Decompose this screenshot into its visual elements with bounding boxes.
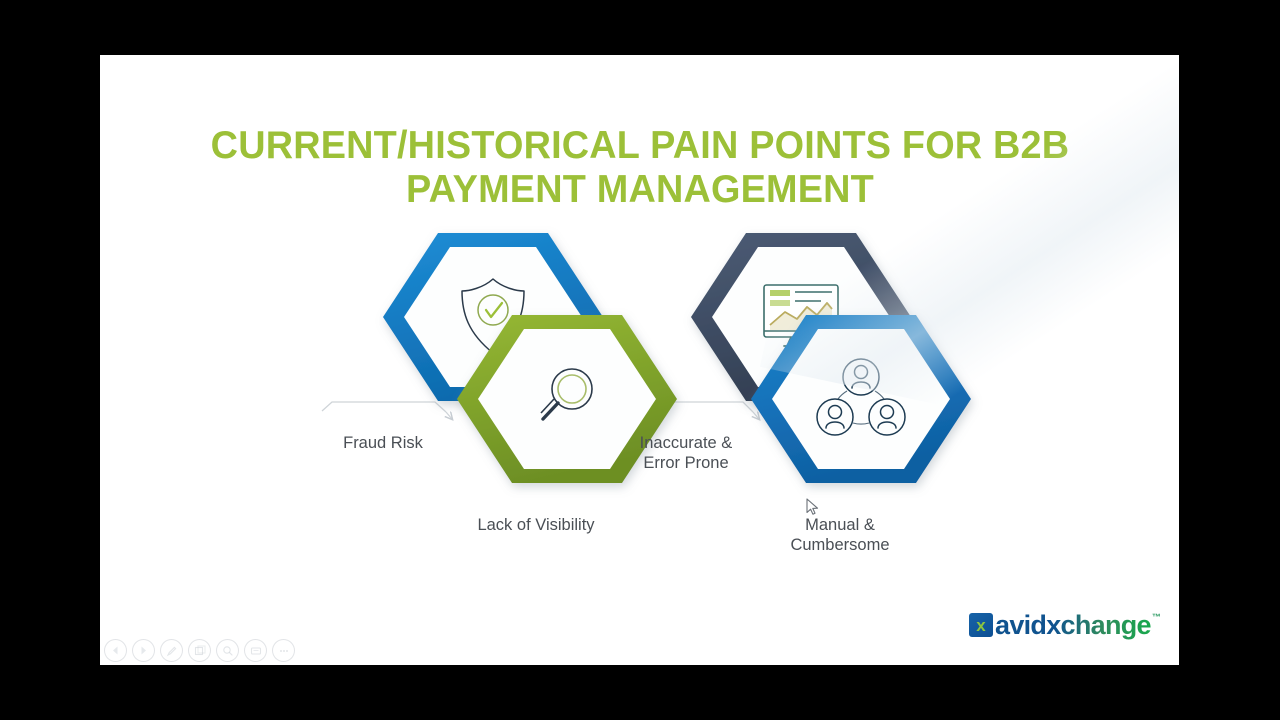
- player-toolbar[interactable]: [104, 639, 295, 662]
- zoom-button[interactable]: [216, 639, 239, 662]
- slides-thumbnails-button[interactable]: [188, 639, 211, 662]
- magnifier-icon: [222, 645, 234, 657]
- logo-mark-icon: x: [969, 613, 993, 637]
- connector-fraud: [322, 402, 446, 412]
- slides-icon: [194, 645, 206, 657]
- label-fraud-risk: Fraud Risk: [288, 433, 478, 453]
- triangle-right-icon: [138, 645, 149, 656]
- triangle-left-icon: [110, 645, 121, 656]
- mouse-cursor: [806, 498, 820, 516]
- trademark-symbol: ™: [1152, 612, 1161, 622]
- ellipsis-icon: [278, 645, 290, 657]
- previous-slide-button[interactable]: [104, 639, 127, 662]
- avidxchange-logo: x avidxchange ™: [969, 608, 1161, 642]
- slide-canvas: CURRENT/HISTORICAL PAIN POINTS FOR B2B P…: [100, 55, 1179, 665]
- screen-icon: [250, 645, 262, 657]
- hexagon-process-diagram: Fraud Risk Lack of Visibility Inaccurate…: [100, 55, 1179, 665]
- fullscreen-button[interactable]: [244, 639, 267, 662]
- label-lack-of-visibility: Lack of Visibility: [436, 515, 636, 535]
- more-options-button[interactable]: [272, 639, 295, 662]
- label-manual-cumbersome: Manual & Cumbersome: [740, 515, 940, 555]
- screen: CURRENT/HISTORICAL PAIN POINTS FOR B2B P…: [0, 0, 1280, 720]
- diagram-svg: [100, 55, 1179, 665]
- pen-annotate-button[interactable]: [160, 639, 183, 662]
- next-slide-button[interactable]: [132, 639, 155, 662]
- label-inaccurate-error-prone: Inaccurate & Error Prone: [586, 433, 786, 473]
- logo-wordmark: avidxchange: [995, 610, 1151, 641]
- pen-icon: [166, 645, 178, 657]
